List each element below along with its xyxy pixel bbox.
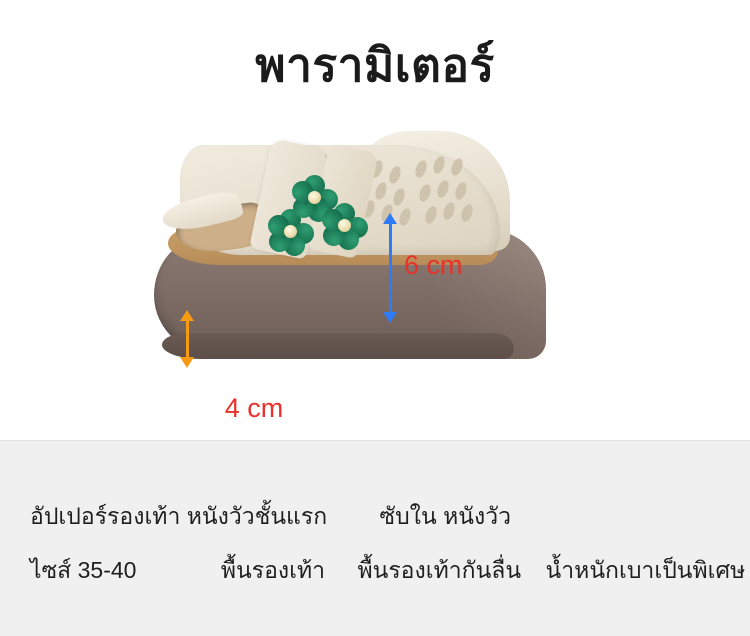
page-title: พารามิเตอร์ — [0, 38, 750, 93]
platform-height-arrow — [180, 310, 196, 368]
product-parameter-page: พารามิเตอร์ — [0, 0, 750, 635]
arrow-down-icon — [180, 357, 194, 368]
spec-upper-material: อัปเปอร์รองเท้า หนังวัวชั้นแรก — [30, 499, 327, 535]
flower-center-icon — [284, 225, 297, 238]
arrow-shaft — [186, 319, 189, 359]
spec-row: ไซส์ 35-40 พื้นรองเท้า พื้นรองเท้ากันลื่… — [0, 553, 750, 589]
sandal-illustration — [140, 145, 540, 395]
spec-anti-slip-sole: พื้นรองเท้ากันลื่น — [357, 553, 521, 589]
flower-center-icon — [308, 191, 321, 204]
spec-row: อัปเปอร์รองเท้า หนังวัวชั้นแรก ซับใน หนั… — [0, 499, 750, 535]
flower-decoration-icon — [322, 203, 368, 249]
product-photo-area: 6 cm 4 cm — [0, 125, 750, 440]
flower-center-icon — [338, 219, 351, 232]
arrow-shaft — [389, 223, 392, 313]
platform-height-label: 4 cm — [184, 393, 324, 424]
specification-panel: อัปเปอร์รองเท้า หนังวัวชั้นแรก ซับใน หนั… — [0, 440, 750, 636]
spec-sole: พื้นรองเท้า — [221, 553, 325, 589]
spec-lining-material: ซับใน หนังวัว — [380, 499, 512, 535]
outsole-shape — [162, 333, 514, 359]
heel-height-arrow — [383, 213, 399, 323]
heel-height-label: 6 cm — [404, 250, 463, 281]
arrow-down-icon — [383, 312, 397, 323]
spec-lightweight: น้ำหนักเบาเป็นพิเศษ — [546, 553, 746, 589]
spec-size-range: ไซส์ 35-40 — [30, 553, 136, 589]
